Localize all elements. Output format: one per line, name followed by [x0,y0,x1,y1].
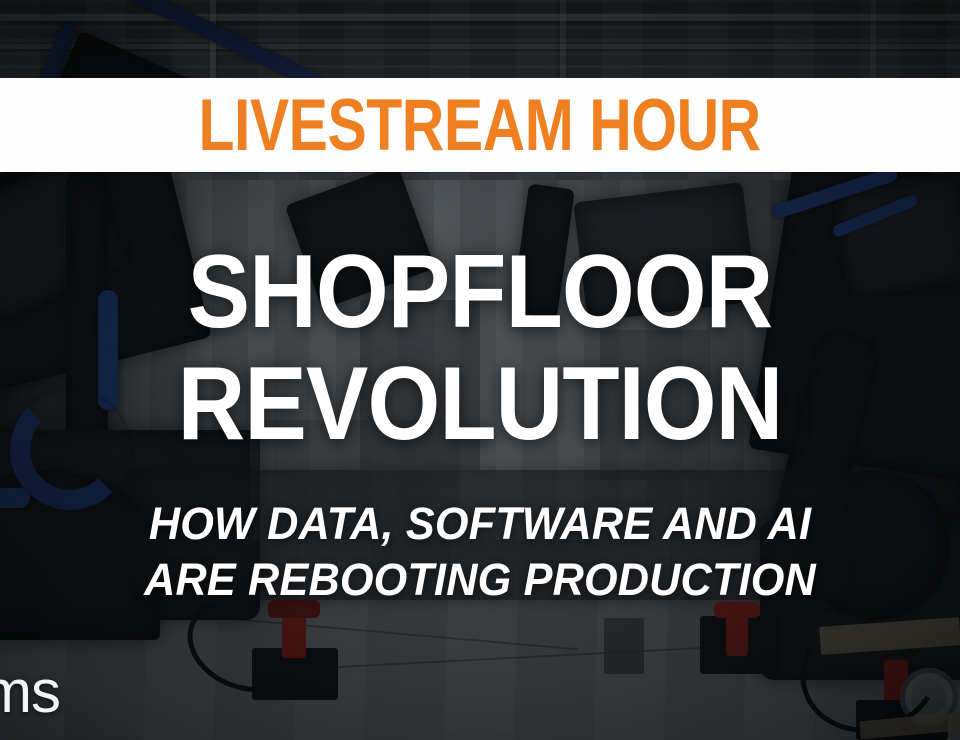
logo-wordmark: ms [0,662,60,722]
subtitle-block: HOW DATA, SOFTWARE AND AI ARE REBOOTING … [0,496,960,608]
subtitle-line-2: ARE REBOOTING PRODUCTION [19,552,941,608]
headline-block: SHOPFLOOR REVOLUTION [0,236,960,460]
subtitle-line-1: HOW DATA, SOFTWARE AND AI [19,496,941,552]
livestream-promo-banner: LIVESTREAM HOUR SHOPFLOOR REVOLUTION HOW… [0,0,960,740]
headline-line-2: REVOLUTION [48,348,912,460]
kicker-label: LIVESTREAM HOUR [199,89,761,162]
kicker-band: LIVESTREAM HOUR [0,78,960,172]
headline-line-1: SHOPFLOOR [48,236,912,348]
